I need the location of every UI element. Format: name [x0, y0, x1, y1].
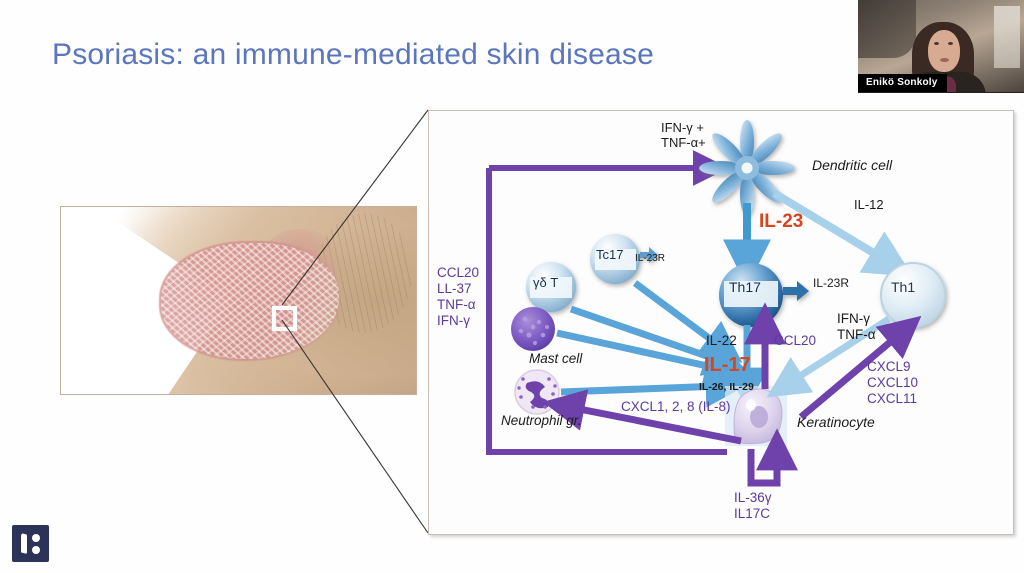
speaker-face: [928, 30, 960, 72]
mast-cell-shape: [511, 307, 555, 351]
label-il26-il29: IL-26, IL-29: [699, 381, 754, 393]
region-of-interest-marker: [272, 306, 297, 331]
speaker-eye-left: [934, 42, 939, 45]
label-th17: Th17: [729, 279, 761, 296]
logo-dot-top: [32, 534, 40, 542]
institution-logo: [12, 525, 49, 562]
label-neutrophil: Neutrophil gr.: [501, 413, 582, 429]
label-il23: IL-23: [759, 211, 803, 233]
label-il23r-th17: IL-23R: [813, 276, 849, 290]
webcam-overlay[interactable]: Enikö Sonkoly: [858, 0, 1024, 93]
label-il17: IL-17: [704, 354, 751, 378]
clinical-photo: [60, 206, 417, 395]
label-mast-cell: Mast cell: [529, 351, 582, 367]
label-dendritic-cell: Dendritic cell: [812, 157, 892, 174]
label-ifn-tnf-top: IFN-γ + TNF-α+: [661, 120, 706, 151]
label-cxcl1-2-8: CXCL1, 2, 8 (IL-8): [621, 399, 731, 415]
pathway-diagram-graphics: [429, 111, 1013, 534]
label-left-cytokine-stack: CCL20 LL-37 TNF-α IFN-γ: [437, 265, 479, 329]
pathway-diagram-panel: IFN-γ + TNF-α+ Dendritic cell IL-23 IL-1…: [428, 110, 1014, 535]
label-gamma-delta-t: γδ T: [533, 275, 558, 290]
slide-canvas: Psoriasis: an immune-mediated skin disea…: [0, 0, 1024, 573]
speaker-name-label: Enikö Sonkoly: [858, 74, 947, 92]
label-ifn-tnf-mid: IFN-γ TNF-α: [837, 311, 876, 343]
page-title: Psoriasis: an immune-mediated skin disea…: [52, 38, 654, 72]
webcam-window: [994, 6, 1020, 68]
label-th1: Th1: [891, 279, 915, 296]
speaker-eye-right: [948, 42, 953, 45]
logo-dot-bottom: [32, 546, 40, 554]
label-il23r-tc17: IL-23R: [635, 253, 665, 265]
label-il12: IL-12: [854, 197, 884, 212]
label-ccl20-mid: CCL20: [774, 333, 816, 349]
speaker-mouth: [940, 58, 949, 62]
logo-bar-shape: [21, 533, 27, 554]
label-il22: IL-22: [706, 333, 737, 349]
label-il36g-il17c: IL-36γ IL17C: [734, 490, 772, 522]
neutrophil-cell-shape: [515, 370, 559, 414]
label-cxcl-stack: CXCL9 CXCL10 CXCL11: [867, 359, 918, 407]
label-tc17: Tc17: [596, 247, 623, 262]
webcam-wall-patch: [858, 0, 916, 58]
label-keratinocyte: Keratinocyte: [797, 414, 875, 431]
